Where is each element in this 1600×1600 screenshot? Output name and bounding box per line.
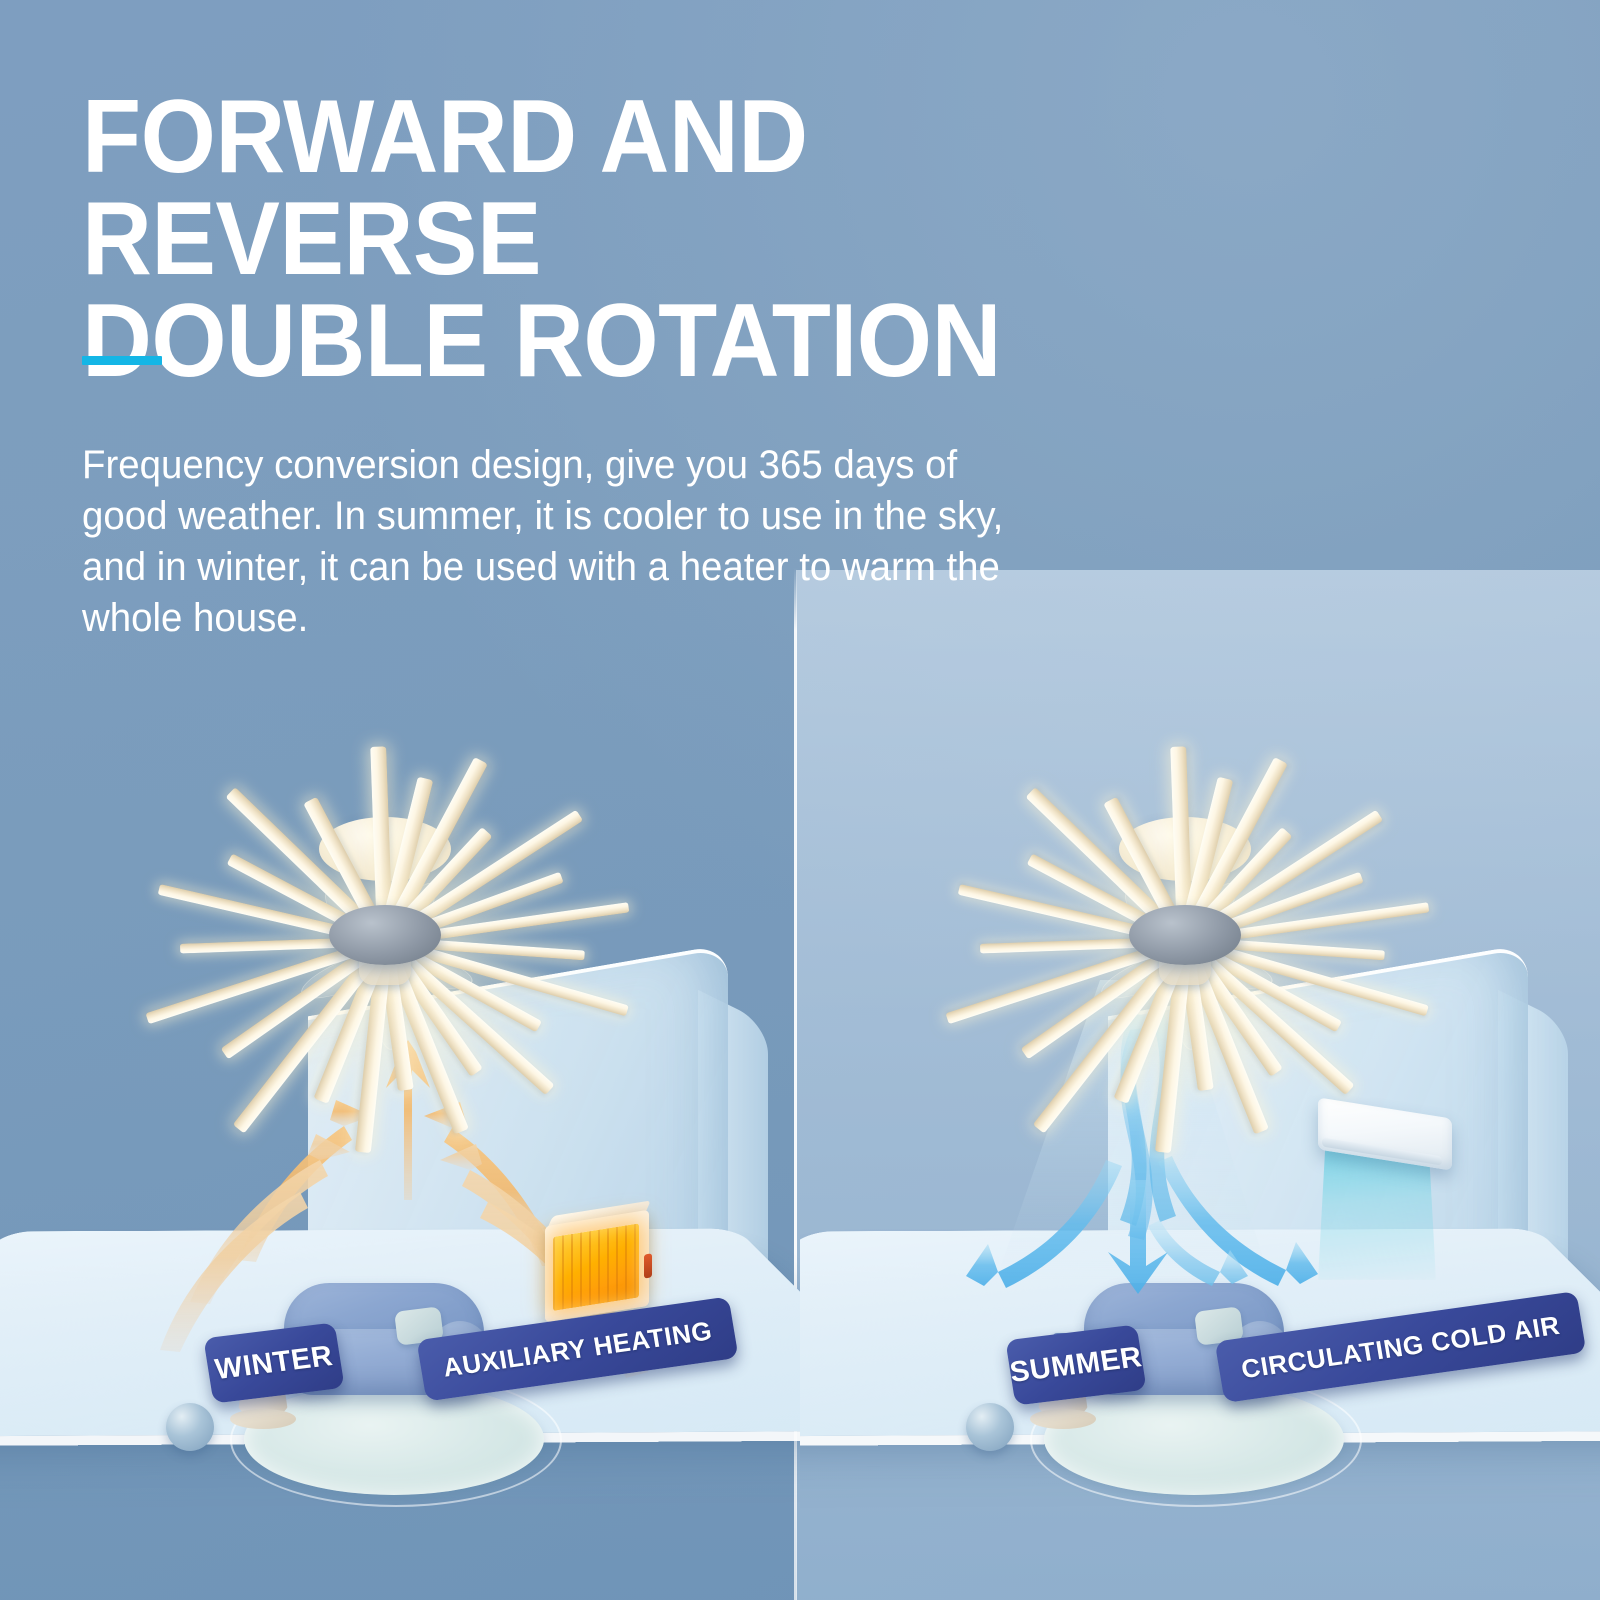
fixture-hub — [1129, 905, 1241, 965]
table-base — [1030, 1409, 1096, 1429]
diorama-room-summer — [808, 1015, 1568, 1535]
table-base — [230, 1409, 296, 1429]
decor-sphere — [166, 1403, 214, 1451]
diorama-room-winter — [8, 1015, 768, 1535]
panel-heater — [545, 1210, 649, 1322]
heater-knob — [644, 1253, 652, 1278]
header-block: FORWARD AND REVERSE DOUBLE ROTATION — [82, 86, 1382, 392]
marketing-banner: FORWARD AND REVERSE DOUBLE ROTATION Freq… — [0, 0, 1600, 1600]
ac-air-stream — [1318, 1150, 1436, 1280]
heater-glow-element — [553, 1223, 639, 1311]
split-air-conditioner — [1318, 1108, 1452, 1160]
page-title: FORWARD AND REVERSE DOUBLE ROTATION — [82, 86, 1291, 392]
fixture-hub — [329, 905, 441, 965]
decor-sphere — [966, 1403, 1014, 1451]
accent-bar — [82, 356, 162, 365]
